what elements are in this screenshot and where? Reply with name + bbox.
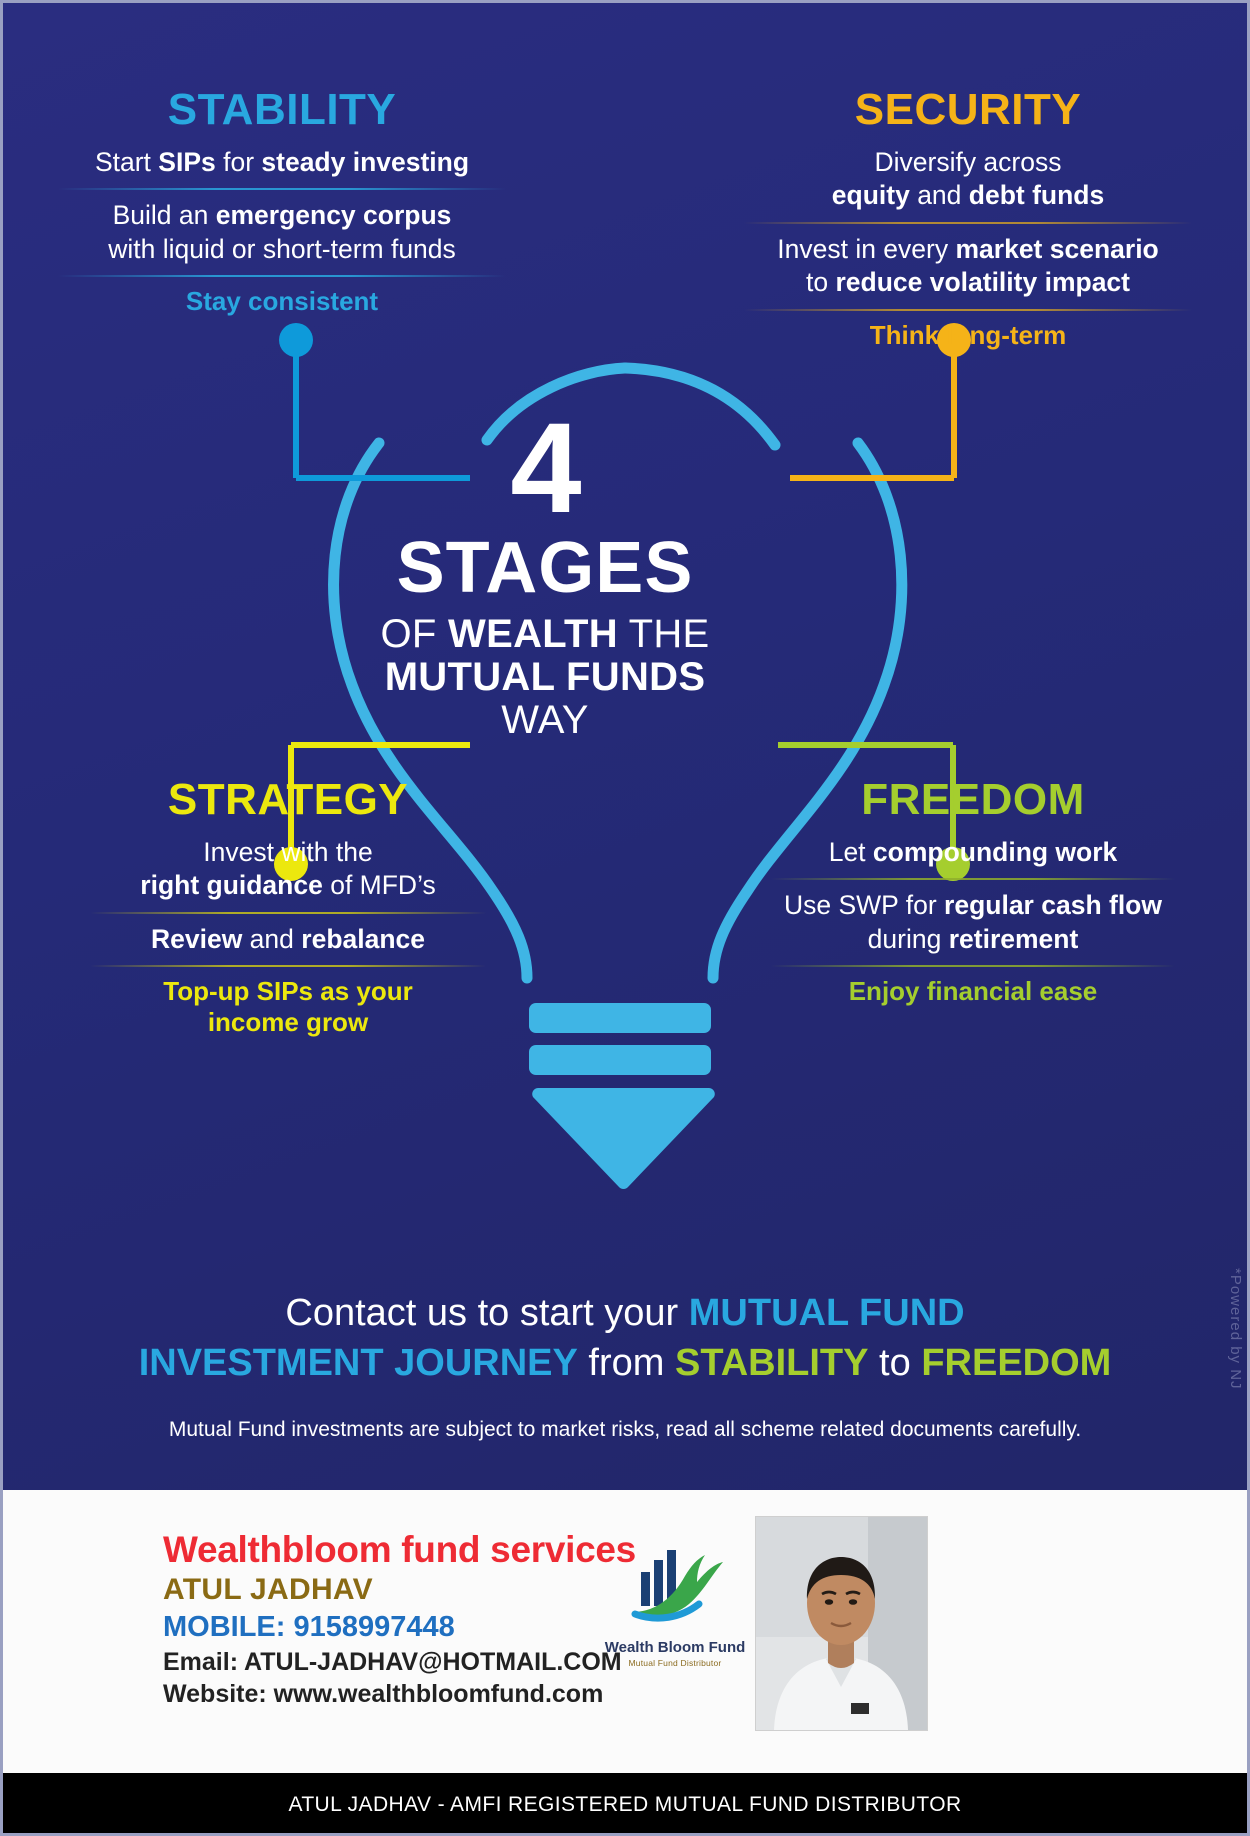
tag-line: Top-up SIPs as your — [58, 976, 518, 1007]
quadrant-security-tag: Think long-term — [708, 320, 1228, 351]
quadrant-strategy-block-1: Invest with theright guidance of MFD’s — [58, 836, 518, 903]
bulb-base — [529, 1003, 715, 1189]
quadrant-security-divider-1 — [744, 222, 1191, 224]
powered-by-label: *Powered by NJ — [1227, 1268, 1244, 1390]
risk-disclaimer: Mutual Fund investments are subject to m… — [0, 1418, 1250, 1442]
quadrant-security-block-2: Invest in every market scenarioto reduce… — [708, 233, 1228, 300]
logo-tagline: Mutual Fund Distributor — [600, 1658, 750, 1668]
cta-span: MUTUAL FUND — [689, 1292, 965, 1334]
quadrant-text-line: Let compounding work — [738, 836, 1208, 869]
quadrant-text-line: Diversify across — [708, 146, 1228, 179]
bulb-sub1-prefix: OF — [380, 612, 448, 656]
bulb-base-bar-2 — [529, 1045, 711, 1075]
quadrant-security: SECURITY Diversify acrossequity and debt… — [708, 88, 1228, 351]
cta-span: STABILITY — [675, 1342, 869, 1384]
quadrant-text-line: equity and debt funds — [708, 179, 1228, 212]
cta-span: FREEDOM — [921, 1342, 1111, 1384]
cta-line-2: INVESTMENT JOURNEY from STABILITY to FRE… — [0, 1338, 1250, 1388]
quadrant-strategy-block-2: Review and rebalance — [58, 923, 518, 956]
amfi-registration-text: ATUL JADHAV - AMFI REGISTERED MUTUAL FUN… — [288, 1793, 961, 1817]
amfi-registration-bar: ATUL JADHAV - AMFI REGISTERED MUTUAL FUN… — [0, 1773, 1250, 1836]
quadrant-text-line: Use SWP for regular cash flow — [738, 889, 1208, 922]
quadrant-freedom-block-2: Use SWP for regular cash flowduring reti… — [738, 889, 1208, 956]
quadrant-text-line: Invest in every market scenario — [708, 233, 1228, 266]
quadrant-text-line: Start SIPs for steady investing — [22, 146, 542, 179]
quadrant-text-line: Review and rebalance — [58, 923, 518, 956]
quadrant-stability-tag: Stay consistent — [22, 286, 542, 317]
cta-line-1: Contact us to start your MUTUAL FUND — [0, 1288, 1250, 1338]
quadrant-strategy-divider-2 — [90, 965, 486, 967]
bulb-base-bar-1 — [529, 1003, 711, 1033]
quadrant-text-line: to reduce volatility impact — [708, 266, 1228, 299]
advisor-name: ATUL JADHAV — [163, 1573, 636, 1607]
bulb-center-text: 4 STAGES OF WEALTH THE MUTUAL FUNDS WAY — [345, 408, 745, 740]
advisor-portrait-image — [756, 1517, 927, 1730]
quadrant-freedom-title: FREEDOM — [738, 778, 1208, 822]
stage-count: 4 — [345, 408, 745, 530]
quadrant-security-block-1: Diversify acrossequity and debt funds — [708, 146, 1228, 213]
cta-span: to — [869, 1342, 922, 1384]
cta-span: from — [578, 1342, 675, 1384]
quadrant-text-line: Invest with the — [58, 836, 518, 869]
bulb-sub1-bold: WEALTH — [448, 612, 618, 656]
website-url[interactable]: Website: www.wealthbloomfund.com — [163, 1680, 636, 1709]
firm-name: Wealthbloom fund services — [163, 1530, 636, 1571]
stages-word: STAGES — [345, 532, 745, 604]
infographic-poster: 4 STAGES OF WEALTH THE MUTUAL FUNDS WAY … — [0, 0, 1250, 1836]
quadrant-stability: STABILITY Start SIPs for steady investin… — [22, 88, 542, 317]
quadrant-stability-block-2: Build an emergency corpuswith liquid or … — [22, 199, 542, 266]
quadrant-freedom-tag: Enjoy financial ease — [738, 976, 1208, 1007]
quadrant-freedom-divider-2 — [771, 965, 1175, 967]
logo-company-name: Wealth Bloom Fund — [600, 1639, 750, 1656]
bulb-subtitle-line-1: OF WEALTH THE — [345, 614, 745, 654]
quadrant-stability-divider-1 — [58, 188, 505, 190]
quadrant-security-title: SECURITY — [708, 88, 1228, 132]
contact-details: Wealthbloom fund services ATUL JADHAV MO… — [163, 1530, 636, 1709]
quadrant-text-line: right guidance of MFD’s — [58, 869, 518, 902]
quadrant-strategy-tag: Top-up SIPs as yourincome grow — [58, 976, 518, 1038]
quadrant-stability-title: STABILITY — [22, 88, 542, 132]
contact-footer: Wealthbloom fund services ATUL JADHAV MO… — [0, 1490, 1250, 1773]
advisor-photo — [755, 1516, 928, 1731]
bulb-subtitle-line-3: WAY — [345, 700, 745, 740]
company-logo: Wealth Bloom Fund Mutual Fund Distributo… — [600, 1542, 750, 1668]
email-address[interactable]: Email: ATUL-JADHAV@HOTMAIL.COM — [163, 1648, 636, 1677]
connector-stability-dot — [279, 323, 313, 357]
quadrant-freedom-block-1: Let compounding work — [738, 836, 1208, 869]
bulb-subtitle-line-2: MUTUAL FUNDS — [345, 657, 745, 697]
quadrant-freedom-divider-1 — [771, 878, 1175, 880]
wealth-bloom-logo-icon — [611, 1542, 739, 1630]
call-to-action: Contact us to start your MUTUAL FUND INV… — [0, 1288, 1250, 1388]
cta-span: INVESTMENT JOURNEY — [139, 1342, 578, 1384]
mobile-number[interactable]: MOBILE: 9158997448 — [163, 1611, 636, 1644]
cta-span: Contact us to start your — [285, 1292, 688, 1334]
quadrant-freedom: FREEDOM Let compounding work Use SWP for… — [738, 778, 1208, 1007]
main-navy-panel: 4 STAGES OF WEALTH THE MUTUAL FUNDS WAY … — [0, 0, 1250, 1490]
quadrant-strategy-title: STRATEGY — [58, 778, 518, 822]
quadrant-text-line: with liquid or short-term funds — [22, 233, 542, 266]
bulb-sub1-suffix: THE — [618, 612, 710, 656]
quadrant-stability-divider-2 — [58, 275, 505, 277]
quadrant-text-line: during retirement — [738, 923, 1208, 956]
bulb-base-arrow — [531, 1088, 715, 1189]
quadrant-stability-block-1: Start SIPs for steady investing — [22, 146, 542, 179]
quadrant-strategy-divider-1 — [90, 912, 486, 914]
tag-line: income grow — [58, 1007, 518, 1038]
quadrant-strategy: STRATEGY Invest with theright guidance o… — [58, 778, 518, 1039]
quadrant-security-divider-2 — [744, 309, 1191, 311]
quadrant-text-line: Build an emergency corpus — [22, 199, 542, 232]
